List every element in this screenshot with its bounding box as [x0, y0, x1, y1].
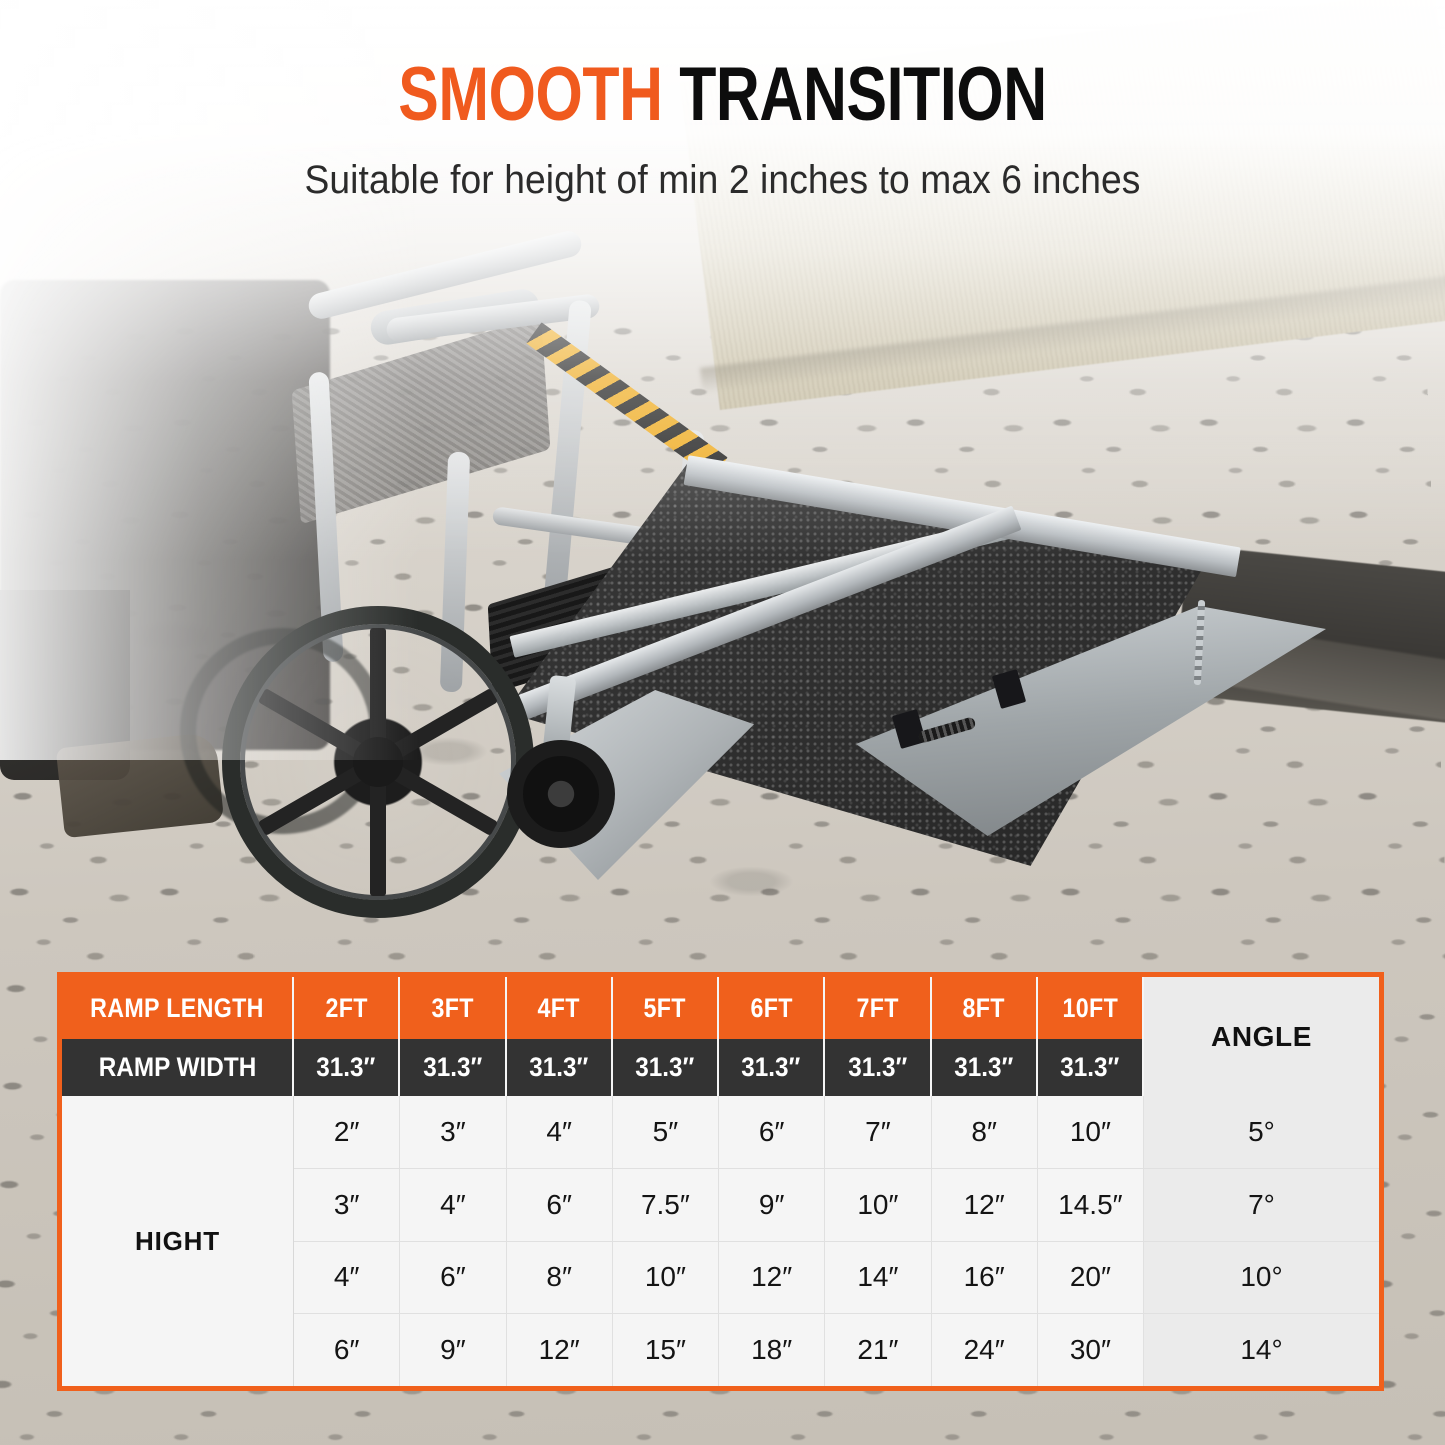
table-row: 3″ 4″ 6″ 7.5″ 9″ 10″ 12″ 14.5″ [294, 1169, 1144, 1242]
page-subtitle: Suitable for height of min 2 inches to m… [51, 158, 1395, 203]
length-header-cell: 8FT [932, 977, 1038, 1039]
length-header-cell: 10FT [1038, 977, 1144, 1039]
title-highlight: SMOOTH [398, 52, 662, 137]
table-header-left: RAMP LENGTH 2FT 3FT 4FT 5FT 6FT 7FT 8FT … [62, 977, 1144, 1096]
wheelchair-castor-wheel [507, 740, 615, 848]
header-block: SMOOTH TRANSITION Suitable for height of… [0, 56, 1445, 203]
width-value-cell: 31.3″ [825, 1039, 931, 1096]
height-cell: 6″ [507, 1169, 613, 1241]
width-value-cell: 31.3″ [1038, 1039, 1144, 1096]
height-cell: 7.5″ [613, 1169, 719, 1241]
width-value-cell: 31.3″ [507, 1039, 613, 1096]
height-cell: 6″ [294, 1314, 400, 1386]
title-rest [663, 52, 680, 137]
length-header-cell: 5FT [613, 977, 719, 1039]
height-cell: 20″ [1038, 1242, 1144, 1314]
height-cell: 8″ [507, 1242, 613, 1314]
length-header-cell: 2FT [294, 977, 400, 1039]
width-value-cell: 31.3″ [400, 1039, 506, 1096]
height-row-label: HIGHT [62, 1096, 294, 1386]
height-cell: 8″ [932, 1096, 1038, 1168]
ramp-width-label: RAMP WIDTH [62, 1039, 294, 1096]
length-header-cell: 3FT [400, 977, 506, 1039]
angle-values-column: 5° 7° 10° 14° [1144, 1096, 1379, 1386]
height-cell: 12″ [507, 1314, 613, 1386]
table-row: 2″ 3″ 4″ 5″ 6″ 7″ 8″ 10″ [294, 1096, 1144, 1169]
length-header-cell: 6FT [719, 977, 825, 1039]
length-header-cell: 4FT [507, 977, 613, 1039]
height-cell: 4″ [294, 1242, 400, 1314]
length-header-cell: 7FT [825, 977, 931, 1039]
height-cell: 7″ [825, 1096, 931, 1168]
table-header-block: RAMP LENGTH 2FT 3FT 4FT 5FT 6FT 7FT 8FT … [62, 977, 1379, 1096]
angle-header: ANGLE [1144, 977, 1379, 1096]
angle-cell: 14° [1144, 1314, 1379, 1386]
angle-cell: 10° [1144, 1242, 1379, 1315]
height-cell: 10″ [613, 1242, 719, 1314]
width-value-cell: 31.3″ [294, 1039, 400, 1096]
spec-table: RAMP LENGTH 2FT 3FT 4FT 5FT 6FT 7FT 8FT … [57, 972, 1384, 1391]
width-value-cell: 31.3″ [719, 1039, 825, 1096]
height-cell: 6″ [719, 1096, 825, 1168]
height-cell: 3″ [294, 1169, 400, 1241]
table-row: 4″ 6″ 8″ 10″ 12″ 14″ 16″ 20″ [294, 1242, 1144, 1315]
width-value-cell: 31.3″ [932, 1039, 1038, 1096]
height-cell: 10″ [1038, 1096, 1144, 1168]
height-cell: 6″ [400, 1242, 506, 1314]
height-cell: 3″ [400, 1096, 506, 1168]
table-body: HIGHT 2″ 3″ 4″ 5″ 6″ 7″ 8″ 10″ 3″ 4″ 6″ … [62, 1096, 1379, 1386]
height-cell: 18″ [719, 1314, 825, 1386]
height-cell: 10″ [825, 1169, 931, 1241]
height-cell: 12″ [932, 1169, 1038, 1241]
height-cell: 14.5″ [1038, 1169, 1144, 1241]
height-cell: 9″ [400, 1314, 506, 1386]
height-cell: 4″ [400, 1169, 506, 1241]
height-cell: 5″ [613, 1096, 719, 1168]
width-value-cell: 31.3″ [613, 1039, 719, 1096]
angle-cell: 7° [1144, 1169, 1379, 1242]
height-cell: 30″ [1038, 1314, 1144, 1386]
height-cell: 16″ [932, 1242, 1038, 1314]
height-cell: 4″ [507, 1096, 613, 1168]
height-cell: 15″ [613, 1314, 719, 1386]
height-cell: 24″ [932, 1314, 1038, 1386]
page-title: SMOOTH TRANSITION [145, 56, 1301, 134]
angle-cell: 5° [1144, 1096, 1379, 1169]
height-values-grid: 2″ 3″ 4″ 5″ 6″ 7″ 8″ 10″ 3″ 4″ 6″ 7.5″ 9… [294, 1096, 1144, 1386]
height-cell: 2″ [294, 1096, 400, 1168]
height-cell: 9″ [719, 1169, 825, 1241]
ramp-width-row: RAMP WIDTH 31.3″ 31.3″ 31.3″ 31.3″ 31.3″… [62, 1039, 1144, 1096]
ramp-length-label: RAMP LENGTH [62, 977, 294, 1039]
ramp-length-row: RAMP LENGTH 2FT 3FT 4FT 5FT 6FT 7FT 8FT … [62, 977, 1144, 1039]
table-row: 6″ 9″ 12″ 15″ 18″ 21″ 24″ 30″ [294, 1314, 1144, 1386]
height-cell: 21″ [825, 1314, 931, 1386]
height-cell: 12″ [719, 1242, 825, 1314]
title-main: TRANSITION [679, 52, 1047, 137]
height-cell: 14″ [825, 1242, 931, 1314]
